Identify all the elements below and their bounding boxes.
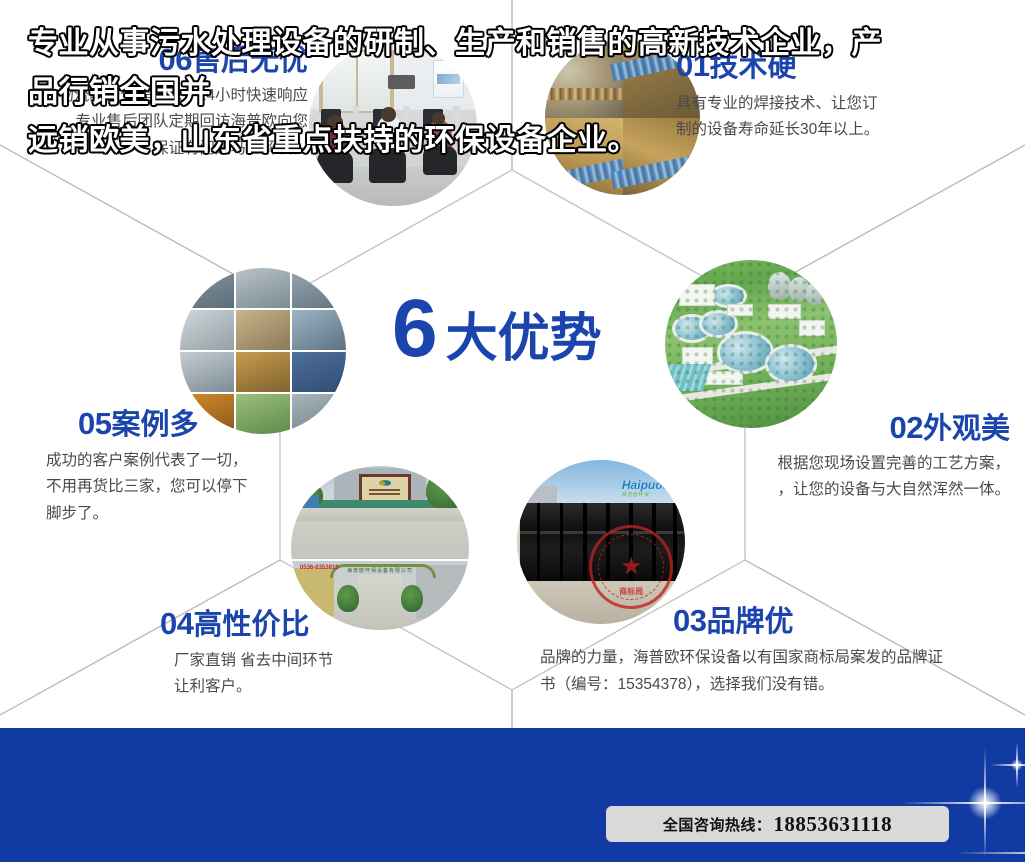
hotline-number: 18853631118 — [773, 812, 892, 837]
feature-05: 05案例多 成功的客户案例代表了一切， 不用再货比三家，您可以停下 脚步了。 — [78, 408, 378, 528]
feature-05-title: 05案例多 — [78, 408, 378, 441]
infographic-stage: 6 大优势 06售后无忧 物流配送全程跟踪，24小时快速响应 ，专业售后团队定期… — [0, 0, 1025, 862]
feature-03-desc: 品牌的力量，海普欧环保设备以有国家商标局案发的品牌证 书（编号：15354378… — [540, 645, 1010, 698]
feature-03: 03品牌优 — [673, 605, 1023, 638]
haipuou-logo: Haipuou 海普欧环保 — [622, 478, 670, 498]
trademark-seal-icon: ★ 商标局 — [589, 525, 673, 609]
feature-04: 04高性价比 厂家直销 省去中间环节 让利客户。 — [160, 608, 490, 701]
feature-05-desc: 成功的客户案例代表了一切， 不用再货比三家，您可以停下 脚步了。 — [46, 448, 378, 528]
feature-02-number: 02 — [890, 410, 923, 445]
feature-04-desc: 厂家直销 省去中间环节 让利客户。 — [174, 648, 490, 701]
feature-04-number: 04 — [160, 606, 193, 641]
black-equipment-tank-photo: Haipuou 海普欧环保 ★ 商标局 — [517, 460, 685, 624]
feature-02: 02外观美 根据您现场设置完善的工艺方案， ，让您的设备与大自然浑然一体。 — [690, 412, 1010, 504]
banner-slogan-line1: 专业从事污水处理设备的研制、生产和销售的高新技术企业，产品行销全国并 — [28, 20, 908, 117]
aerial-treatment-plant-photo — [665, 260, 837, 428]
sparkle-icon-2 — [955, 788, 1025, 862]
center-label-text: 大优势 — [446, 313, 602, 365]
feature-03-number: 03 — [673, 603, 706, 638]
sparkle-icon-3 — [990, 742, 1025, 788]
feature-03-title-text: 品牌优 — [706, 606, 793, 638]
feature-04-title: 04高性价比 — [160, 608, 490, 641]
feature-05-number: 05 — [78, 406, 111, 441]
feature-02-title-text: 外观美 — [923, 413, 1010, 445]
feature-02-title: 02外观美 — [690, 412, 1010, 445]
feature-04-title-text: 高性价比 — [193, 609, 309, 641]
feature-03-title: 03品牌优 — [673, 605, 1023, 638]
hotline-box[interactable]: 全国咨询热线： 18853631118 — [606, 806, 949, 842]
banner-slogan-line2: 远销欧美，山东省重点扶持的环保设备企业。 — [28, 117, 908, 166]
feature-05-title-text: 案例多 — [111, 409, 198, 441]
banner-slogan: 专业从事污水处理设备的研制、生产和销售的高新技术企业，产品行销全国并 远销欧美，… — [28, 20, 908, 166]
center-headline: 6 大优势 — [392, 288, 602, 370]
hotline-label: 全国咨询热线： — [663, 814, 772, 835]
center-number: 6 — [392, 288, 436, 370]
feature-03-desc-block: 品牌的力量，海普欧环保设备以有国家商标局案发的品牌证 书（编号：15354378… — [540, 645, 1010, 698]
feature-02-desc: 根据您现场设置完善的工艺方案， ，让您的设备与大自然浑然一体。 — [690, 451, 1010, 504]
